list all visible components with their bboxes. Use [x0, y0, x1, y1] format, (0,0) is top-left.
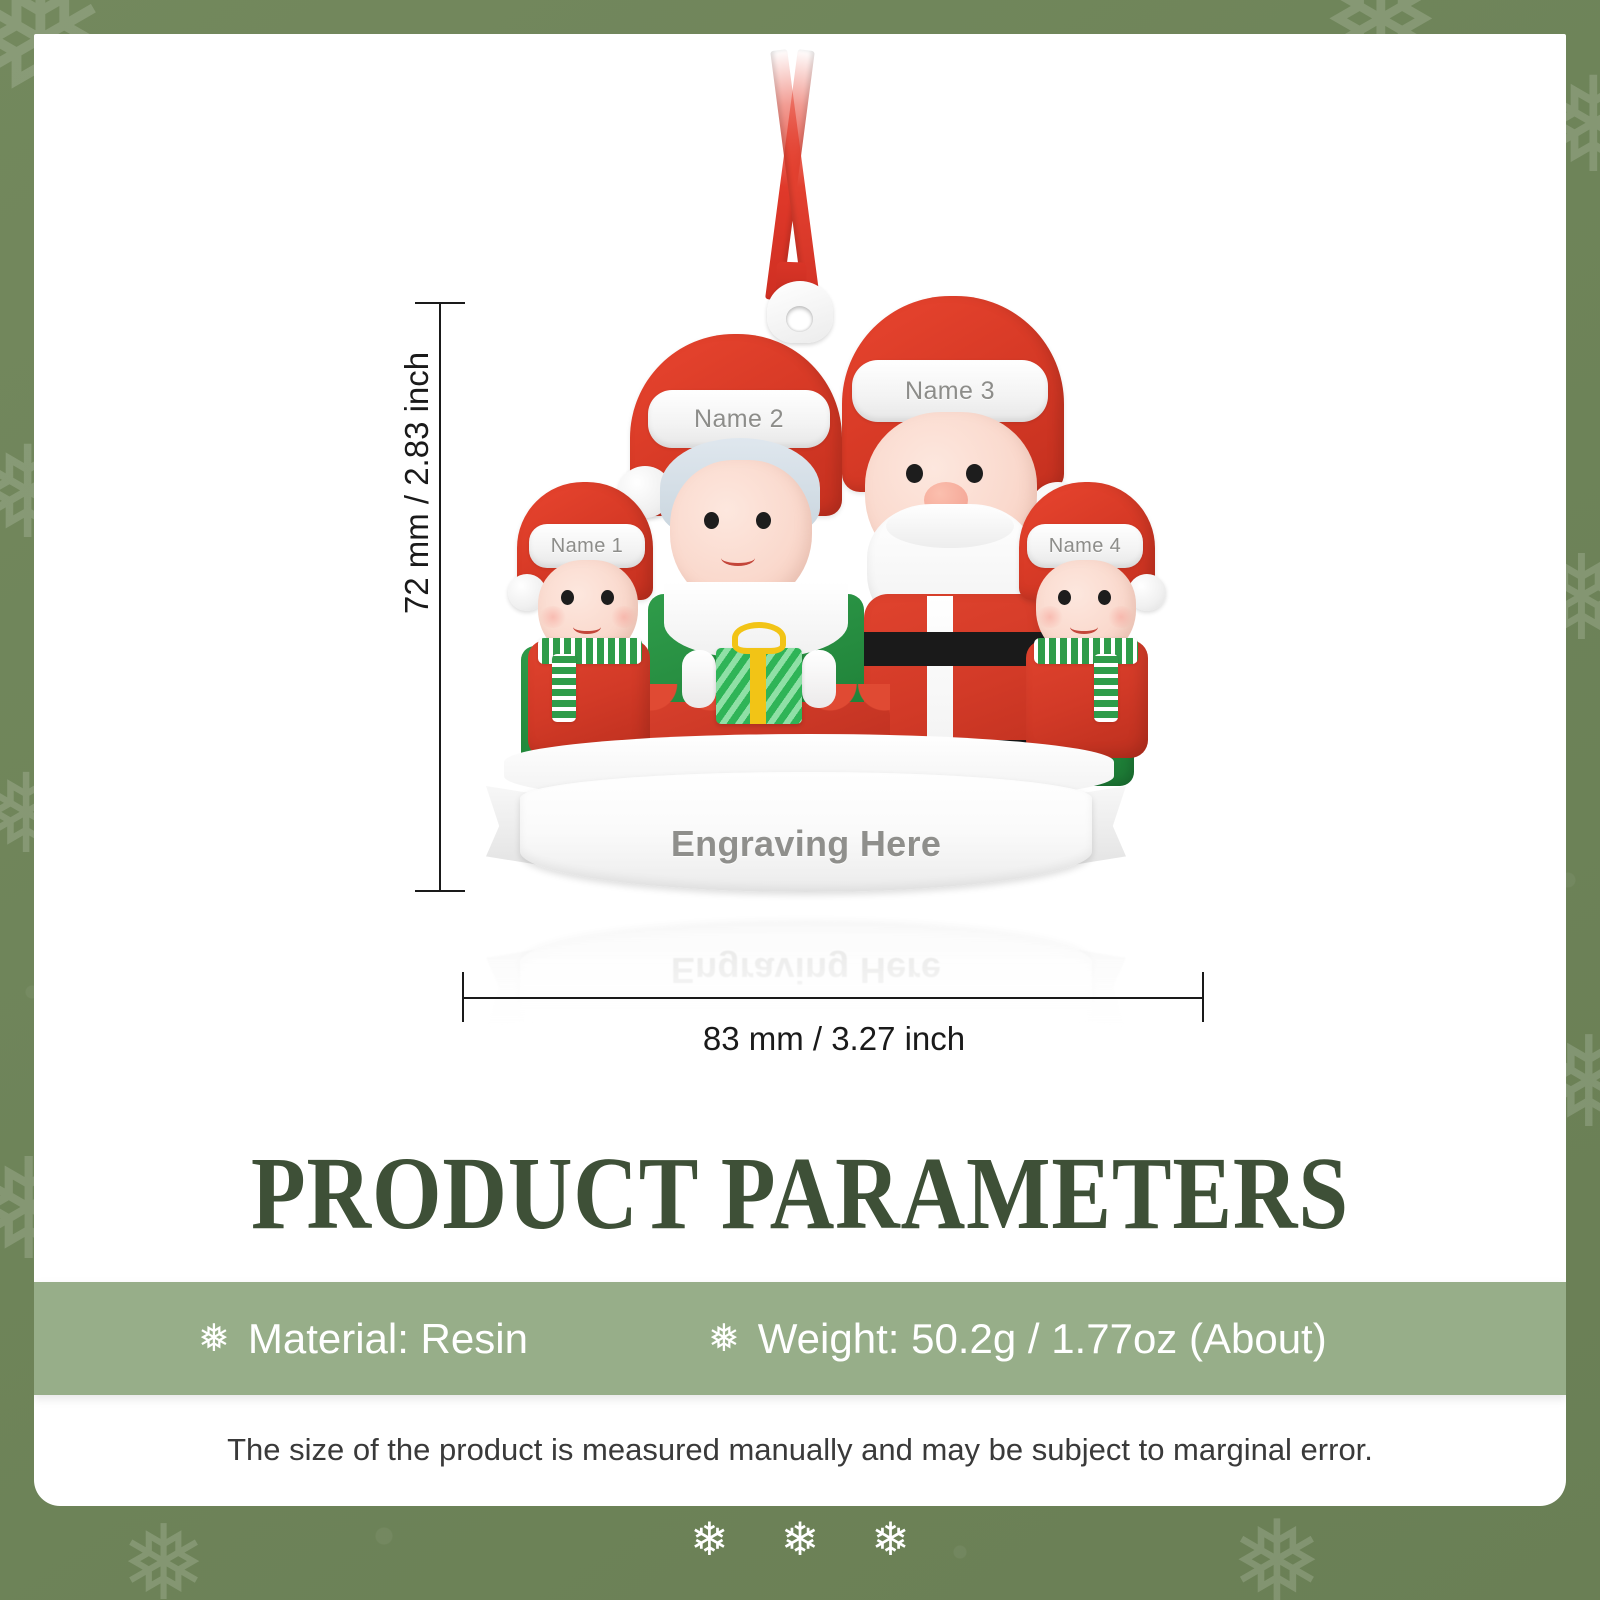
engraving-banner: Engraving Here — [486, 772, 1126, 904]
reflection-engraving-text: Engraving Here — [671, 949, 941, 991]
snowflake-icon: ❄ — [781, 1516, 820, 1562]
name-label-2: Name 2 — [694, 405, 784, 434]
child-right-cheek-right — [1107, 606, 1135, 628]
mrs-claus-hand-right — [802, 650, 836, 708]
width-dimension-cap-right — [1202, 972, 1204, 1022]
christmas-ornament: Name 3 Name 2 — [34, 34, 1566, 1094]
footer-snowflake-row: ❄ ❄ ❄ — [0, 1516, 1600, 1562]
width-dimension-label: 83 mm / 3.27 inch — [462, 1020, 1206, 1058]
santa-belt — [864, 632, 1046, 666]
snowflake-icon: ❅ — [198, 1320, 230, 1358]
mrs-claus-hand-left — [682, 650, 716, 708]
snowflake-icon: ❄ — [871, 1516, 910, 1562]
mrs-claus-eye-left — [704, 512, 719, 529]
measurement-disclaimer: The size of the product is measured manu… — [34, 1432, 1566, 1468]
name-label-1: Name 1 — [551, 535, 623, 558]
santa-eye-left — [906, 464, 923, 483]
product-photo: Name 3 Name 2 — [34, 34, 1566, 1094]
section-title: PRODUCT PARAMETERS — [141, 1142, 1459, 1246]
banner-face: Engraving Here — [520, 772, 1092, 892]
ornament-hang-hole — [786, 306, 813, 332]
santa-moustache — [886, 504, 1014, 548]
height-dimension-label: 72 mm / 2.83 inch — [398, 343, 436, 623]
engraving-text: Engraving Here — [671, 823, 941, 865]
child-right-scarf-tail — [1094, 654, 1118, 722]
child-right-scarf — [1034, 638, 1138, 664]
weight-text: Weight: 50.2g / 1.77oz (About) — [758, 1315, 1327, 1363]
child-right-eye-right — [1098, 590, 1111, 605]
name-label-3: Name 3 — [905, 377, 995, 406]
material-text: Material: Resin — [248, 1315, 528, 1363]
snowflake-icon: ❄ — [690, 1516, 729, 1562]
child-right-cheek-left — [1036, 606, 1064, 628]
mrs-claus-smile — [721, 550, 755, 566]
parameter-weight: ❅ Weight: 50.2g / 1.77oz (About) — [708, 1315, 1327, 1363]
product-parameters-bar: ❅ Material: Resin ❅ Weight: 50.2g / 1.77… — [34, 1282, 1566, 1395]
child-right-eye-left — [1058, 590, 1071, 605]
content-card: Name 3 Name 2 — [34, 34, 1566, 1506]
page-frame: ❅ ❅ ❅ ❅ ❅ ❅ ❅ ❅ ❅ ❅ Name — [0, 0, 1600, 1600]
child-left-cheek-right — [610, 606, 638, 628]
child-left-scarf-tail — [552, 654, 576, 722]
name-label-4: Name 4 — [1049, 535, 1121, 558]
child-left-smile — [573, 620, 601, 634]
height-dimension-cap-bottom — [415, 890, 465, 892]
width-dimension-line — [462, 997, 1204, 999]
gift-bow — [732, 622, 786, 654]
gift-ribbon-vertical — [750, 648, 766, 724]
child-left-eye-left — [561, 590, 574, 605]
snowflake-icon: ❅ — [708, 1320, 740, 1358]
mrs-claus-eye-right — [756, 512, 771, 529]
child-right-smile — [1070, 620, 1098, 634]
parameter-material: ❅ Material: Resin — [198, 1315, 528, 1363]
santa-eye-right — [966, 464, 983, 483]
height-dimension-line — [439, 302, 441, 892]
child-left-cheek-left — [539, 606, 567, 628]
child-left-eye-right — [601, 590, 614, 605]
